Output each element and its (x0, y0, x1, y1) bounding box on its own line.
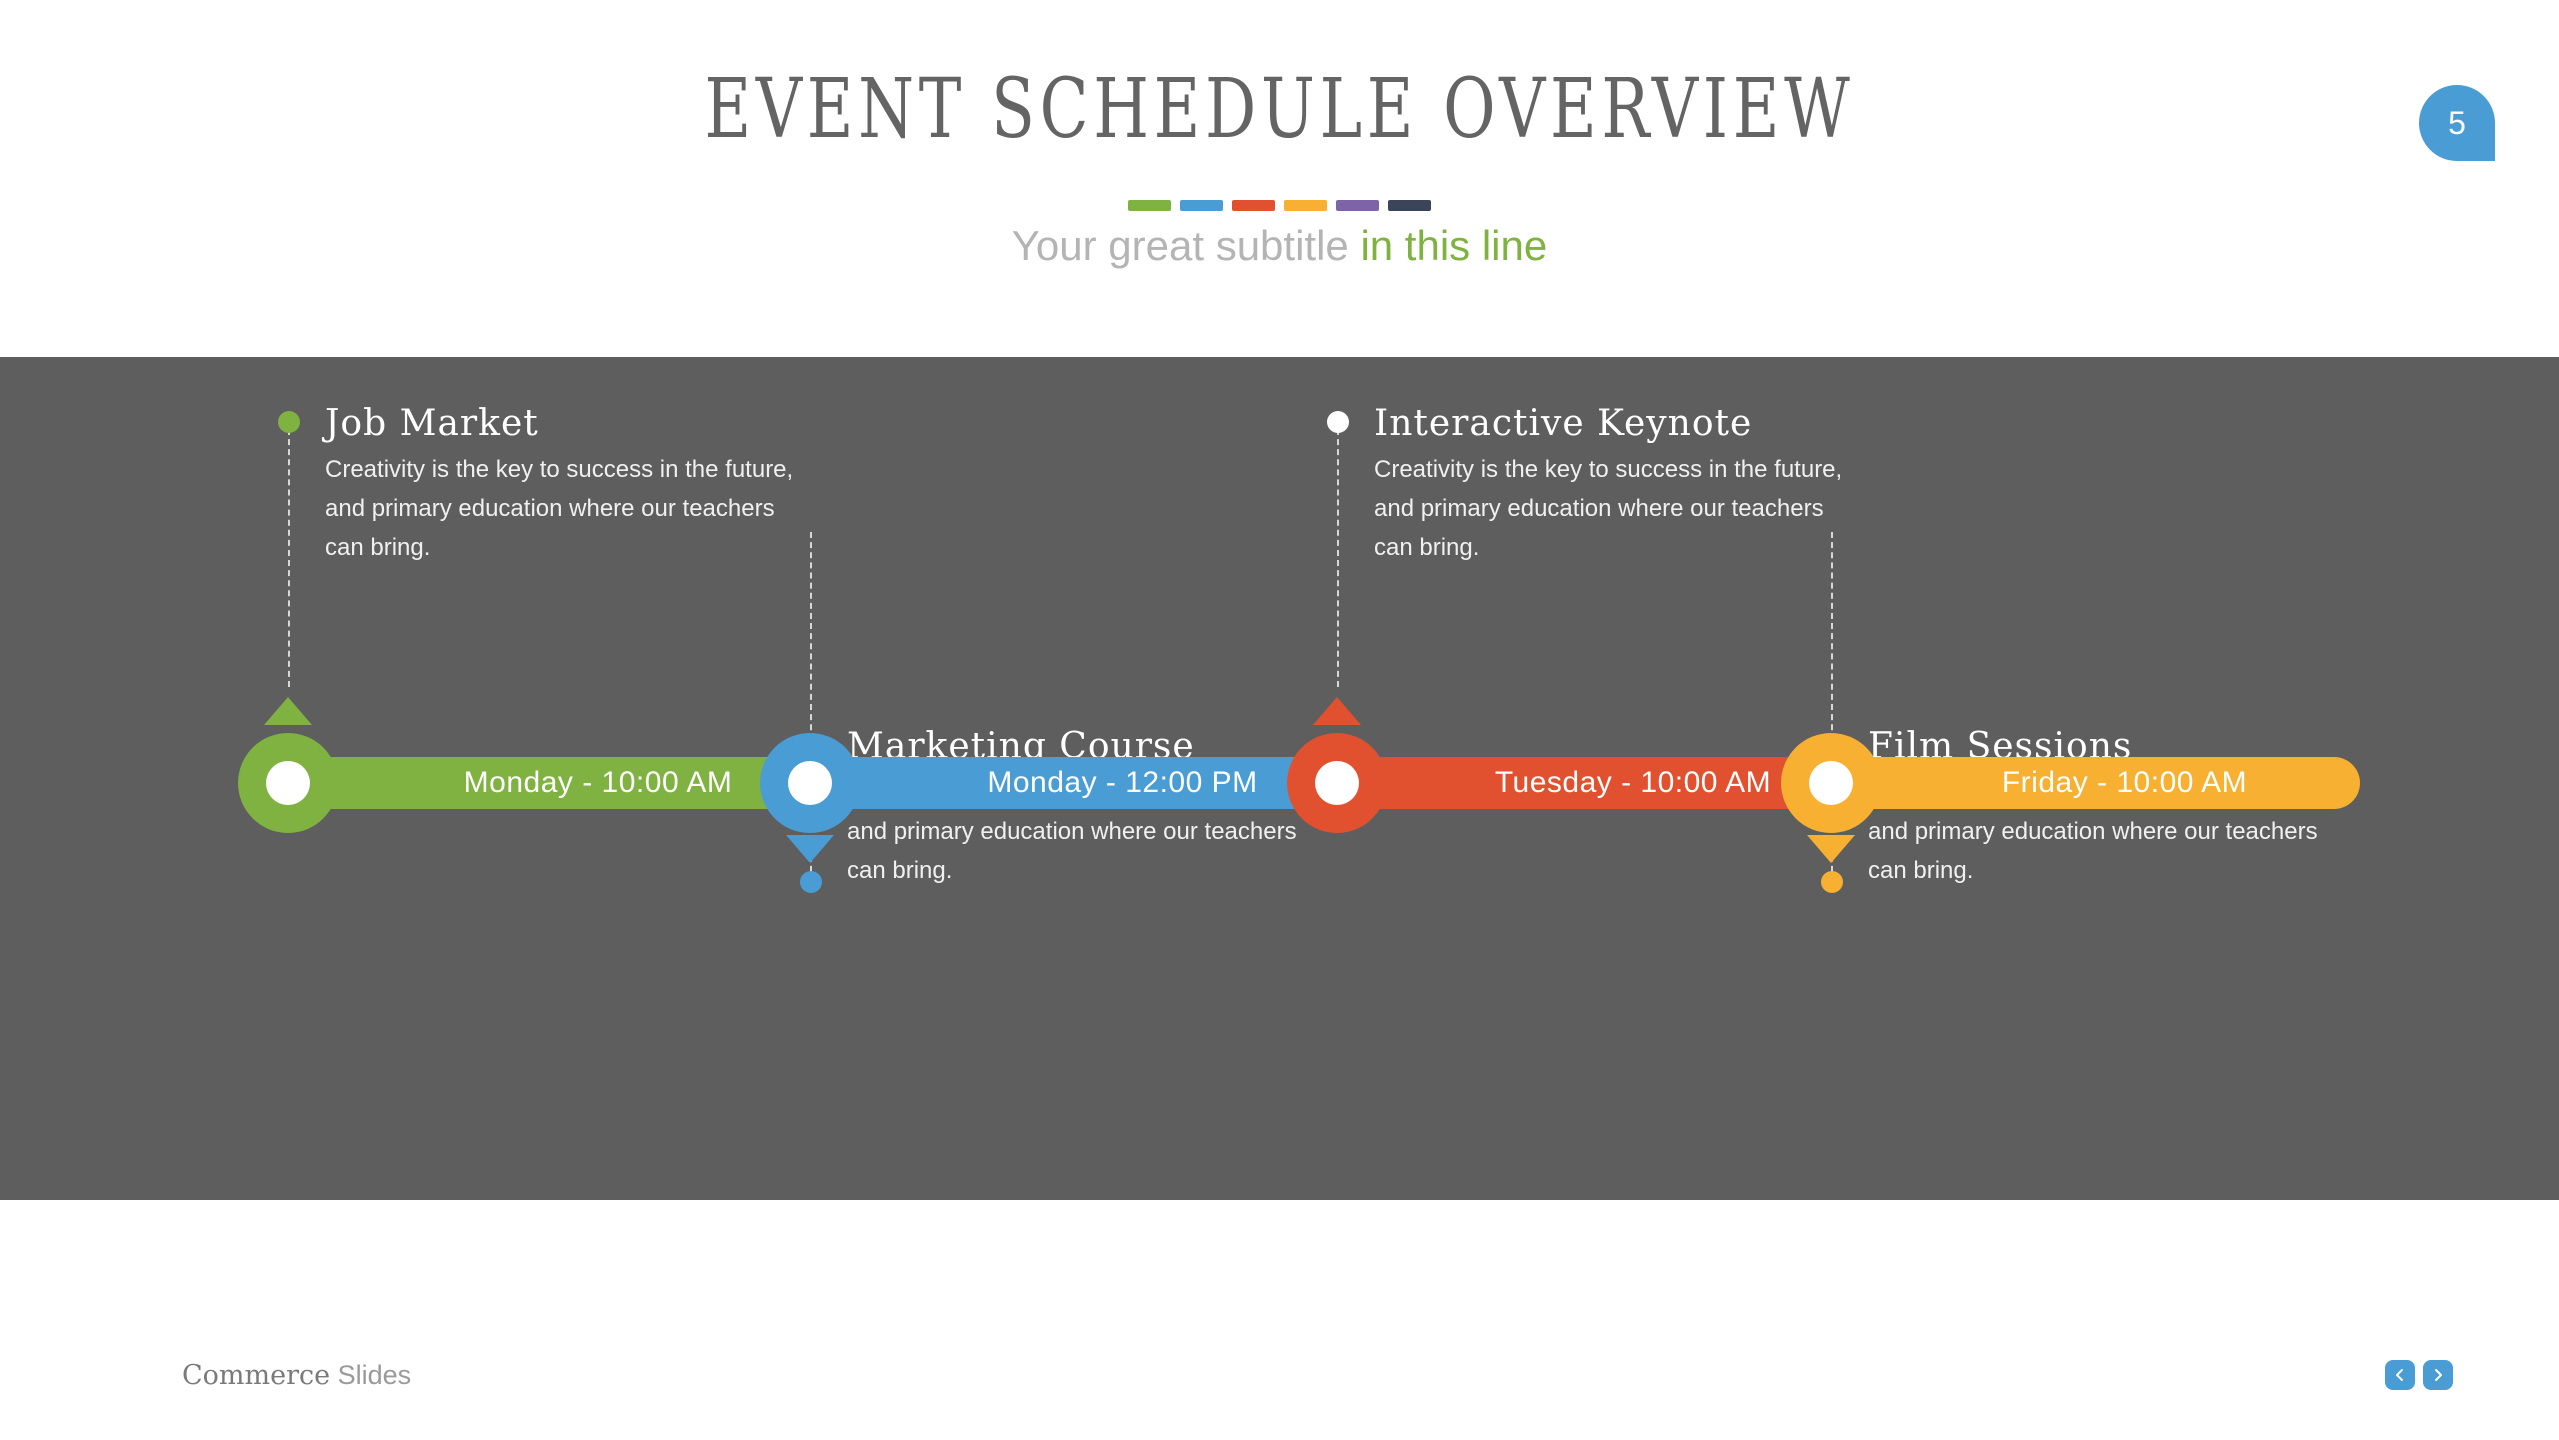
callout-dot (1821, 871, 1843, 893)
triangle-up-icon (1313, 697, 1361, 725)
callout-connector (1337, 429, 1339, 687)
page-number-label: 5 (2448, 105, 2466, 142)
slide-header: EVENT SCHEDULE OVERVIEW Your great subti… (0, 0, 2559, 357)
timeline-panel: Monday - 10:00 AMMonday - 12:00 PMTuesda… (0, 357, 2559, 1200)
callout-dot (278, 411, 300, 433)
triangle-down-icon (1807, 835, 1855, 863)
triangle-up-icon (264, 697, 312, 725)
timeline-segment-label: Monday - 12:00 PM (929, 766, 1257, 800)
brand-label: Commerce Slides (182, 1360, 411, 1391)
timeline-node-dot (1315, 761, 1359, 805)
timeline-segment-label: Friday - 10:00 AM (1944, 766, 2247, 800)
callout-dot (800, 871, 822, 893)
timeline-node-dot (266, 761, 310, 805)
timeline-segment-label: Tuesday - 10:00 AM (1437, 766, 1771, 800)
brand-name-secondary: Slides (330, 1360, 411, 1390)
color-swatch-row (0, 200, 2559, 211)
timeline-node[interactable] (238, 733, 338, 833)
triangle-down-icon (786, 835, 834, 863)
brand-name-primary: Commerce (182, 1360, 330, 1391)
swatch-green (1128, 200, 1171, 211)
swatch-navy (1388, 200, 1431, 211)
prev-slide-button[interactable] (2385, 1360, 2415, 1390)
subtitle-accent: in this line (1360, 222, 1547, 269)
next-slide-button[interactable] (2423, 1360, 2453, 1390)
callout-body: Creativity is the key to success in the … (1374, 450, 1844, 567)
callout-body: Creativity is the key to success in the … (325, 450, 795, 567)
page-number-badge: 5 (2419, 85, 2495, 161)
page-subtitle: Your great subtitle in this line (0, 222, 2559, 270)
timeline-node[interactable] (1781, 733, 1881, 833)
page-title: EVENT SCHEDULE OVERVIEW (281, 62, 2277, 157)
callout-title: Interactive Keynote (1374, 403, 1844, 444)
timeline-node[interactable] (1287, 733, 1387, 833)
timeline-segment[interactable]: Friday - 10:00 AM (1831, 757, 2360, 809)
swatch-orange (1284, 200, 1327, 211)
swatch-blue (1180, 200, 1223, 211)
timeline-node-dot (788, 761, 832, 805)
timeline-segment-label: Monday - 10:00 AM (406, 766, 733, 800)
chevron-left-icon (2393, 1368, 2407, 1382)
slide-navigation (2385, 1360, 2453, 1390)
callout-block[interactable]: Interactive KeynoteCreativity is the key… (1374, 403, 1844, 567)
slide-root: EVENT SCHEDULE OVERVIEW Your great subti… (0, 0, 2559, 1440)
swatch-red (1232, 200, 1275, 211)
swatch-purple (1336, 200, 1379, 211)
slide-footer: Commerce Slides (0, 1200, 2559, 1440)
callout-block[interactable]: Job MarketCreativity is the key to succe… (325, 403, 795, 567)
timeline-node[interactable] (760, 733, 860, 833)
callout-title: Job Market (325, 403, 795, 444)
timeline-node-dot (1809, 761, 1853, 805)
callout-dot (1327, 411, 1349, 433)
callout-connector (288, 429, 290, 687)
subtitle-plain: Your great subtitle (1012, 222, 1361, 269)
chevron-right-icon (2431, 1368, 2445, 1382)
